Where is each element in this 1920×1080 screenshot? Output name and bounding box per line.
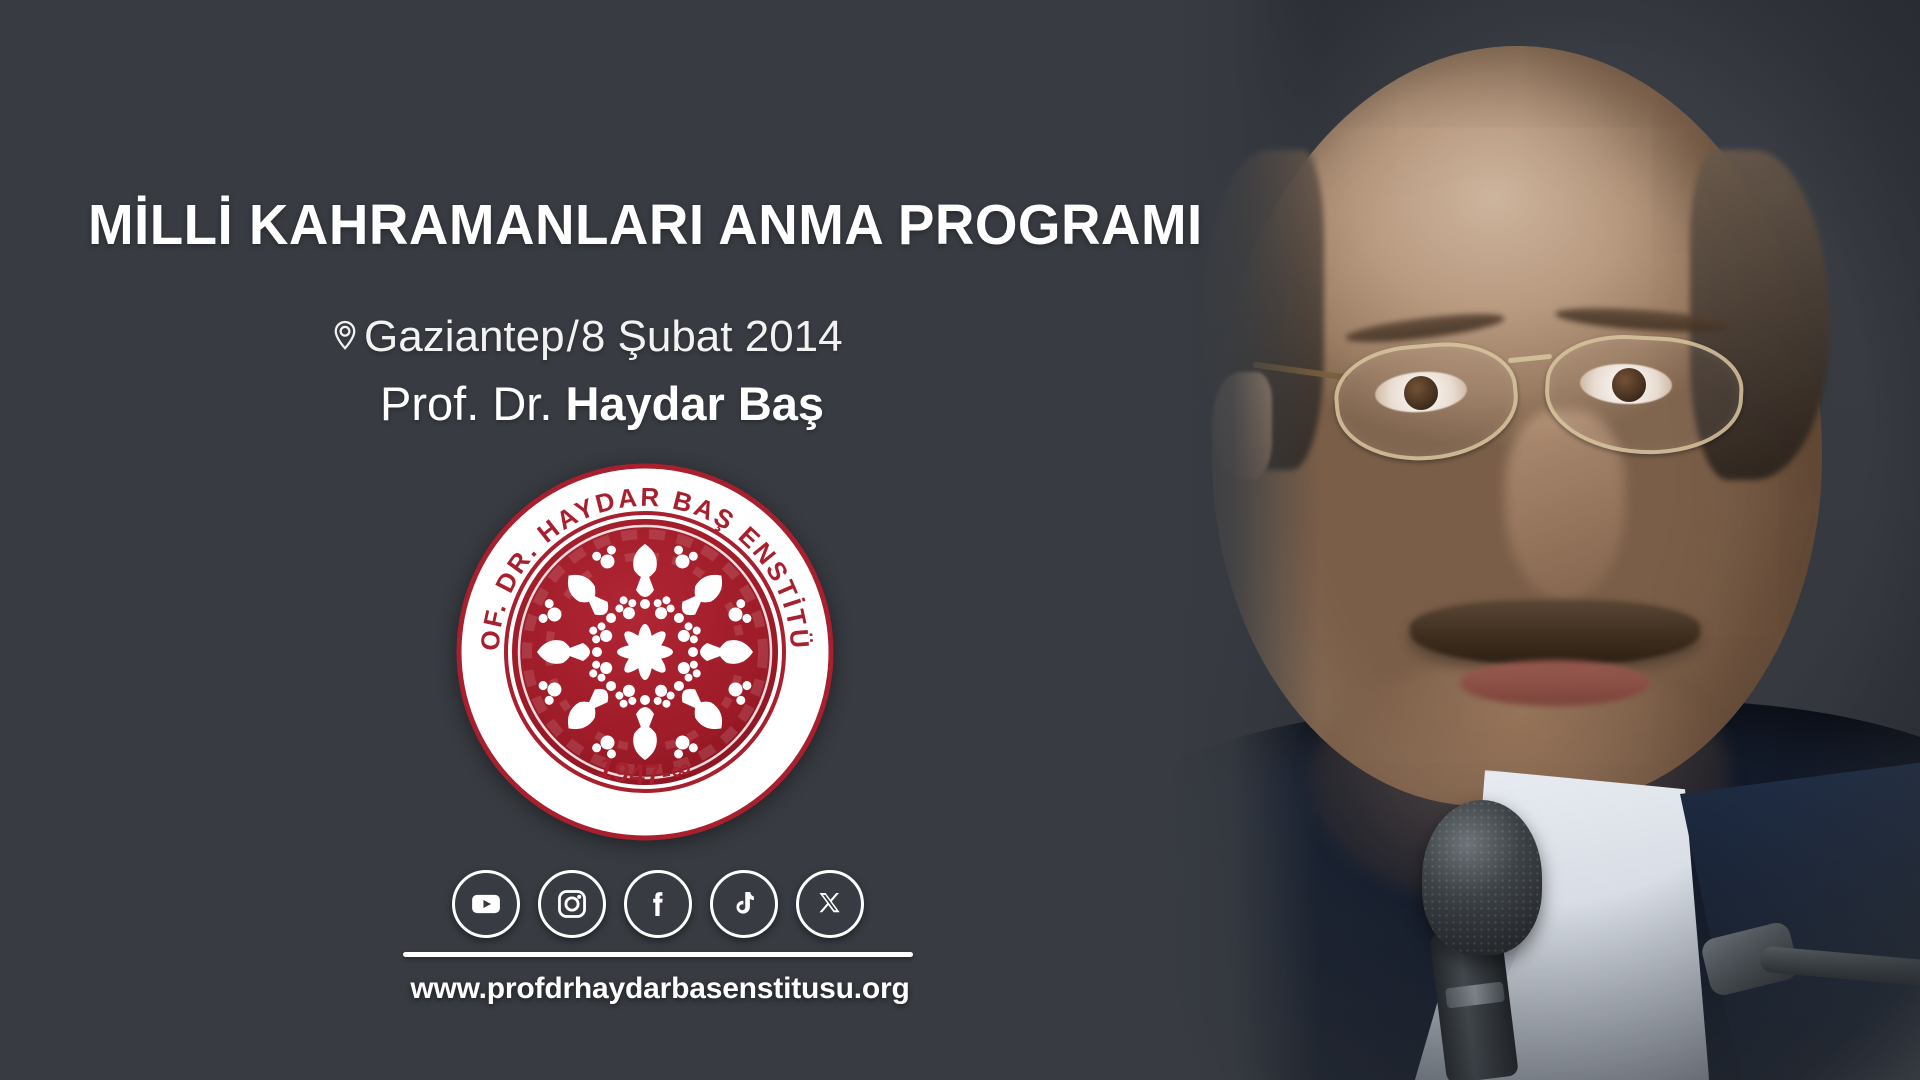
social-link-tiktok[interactable] (710, 870, 778, 938)
location-pin-icon (330, 318, 360, 356)
event-title: MİLLİ KAHRAMANLARI ANMA PROGRAMI (88, 192, 1203, 258)
instagram-icon (556, 888, 588, 920)
social-link-facebook[interactable] (624, 870, 692, 938)
event-date: 8 Şubat 2014 (581, 312, 843, 362)
speaker-name: Haydar Baş (565, 377, 824, 430)
website-url[interactable]: www.profdrhaydarbasenstitusu.org (380, 972, 940, 1006)
location-city: Gaziantep (364, 312, 565, 362)
location-date-line: Gaziantep / 8 Şubat 2014 (330, 312, 843, 362)
poster-content: MİLLİ KAHRAMANLARI ANMA PROGRAMI Gaziant… (0, 0, 1260, 1080)
location-date-separator: / (567, 312, 579, 362)
social-links-row[interactable] (452, 870, 864, 938)
website-divider-rule (403, 952, 913, 957)
facebook-icon (642, 888, 674, 920)
poster-canvas: MİLLİ KAHRAMANLARI ANMA PROGRAMI Gaziant… (0, 0, 1920, 1080)
social-link-x[interactable] (796, 870, 864, 938)
speaker-line: Prof. Dr. Haydar Baş (380, 376, 824, 431)
seal-rosette-ornament (537, 544, 753, 760)
x-twitter-icon (816, 890, 844, 918)
social-link-youtube[interactable] (452, 870, 520, 938)
speaker-title-prefix: Prof. Dr. (380, 377, 565, 430)
speaker-portrait-photo (1160, 0, 1920, 1080)
social-link-instagram[interactable] (538, 870, 606, 938)
youtube-icon (469, 887, 503, 921)
tiktok-icon (729, 889, 759, 919)
institute-seal-logo: PROF. DR. HAYDAR BAŞ ENSTİTÜSÜ 1947-∞ (455, 462, 835, 842)
